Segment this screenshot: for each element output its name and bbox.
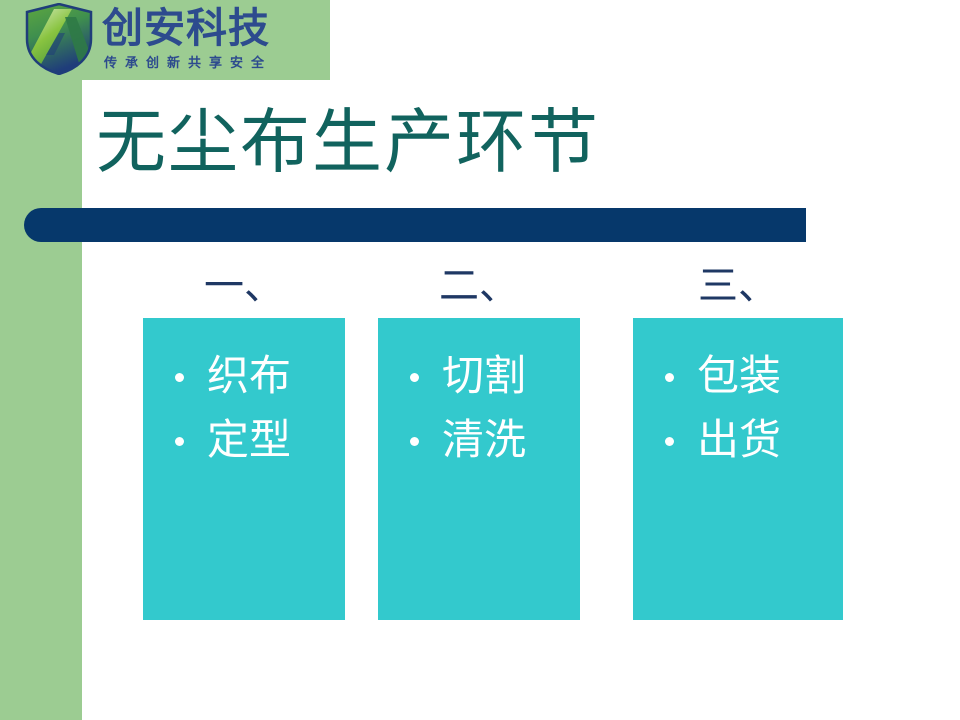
shield-logo-icon: [24, 3, 94, 75]
slide-canvas: 创安科技 传承创新共享安全 无尘布生产环节 一、 织布 定型 二、 切割 清洗: [0, 0, 960, 720]
process-column-2: 二、 切割 清洗: [378, 258, 580, 623]
column-bullet-list-1: 织布 定型: [143, 344, 345, 472]
list-item: 包装: [659, 344, 843, 408]
column-header-3: 三、: [633, 258, 843, 318]
brand-tagline: 传承创新共享安全: [104, 55, 324, 71]
company-logo: 创安科技 传承创新共享安全: [24, 3, 324, 77]
process-column-1: 一、 织布 定型: [143, 258, 345, 623]
left-green-band: [0, 0, 82, 720]
page-title: 无尘布生产环节: [96, 96, 916, 188]
title-divider-bar: [24, 208, 806, 242]
list-item: 定型: [169, 408, 345, 472]
column-bullet-list-2: 切割 清洗: [378, 344, 580, 472]
process-column-3: 三、 包装 出货: [633, 258, 843, 623]
column-bullet-list-3: 包装 出货: [633, 344, 843, 472]
list-item: 切割: [404, 344, 580, 408]
list-item: 清洗: [404, 408, 580, 472]
column-header-1: 一、: [143, 258, 345, 318]
brand-name: 创安科技: [102, 5, 324, 51]
list-item: 织布: [169, 344, 345, 408]
column-box-3: 包装 出货: [633, 318, 843, 620]
column-header-2: 二、: [378, 258, 580, 318]
list-item: 出货: [659, 408, 843, 472]
process-columns: 一、 织布 定型 二、 切割 清洗 三、 包装 出货: [143, 258, 843, 623]
column-box-2: 切割 清洗: [378, 318, 580, 620]
brand-name-text: 创安科技: [102, 5, 324, 51]
column-box-1: 织布 定型: [143, 318, 345, 620]
brand-tagline-text: 传承创新共享安全: [104, 55, 324, 71]
